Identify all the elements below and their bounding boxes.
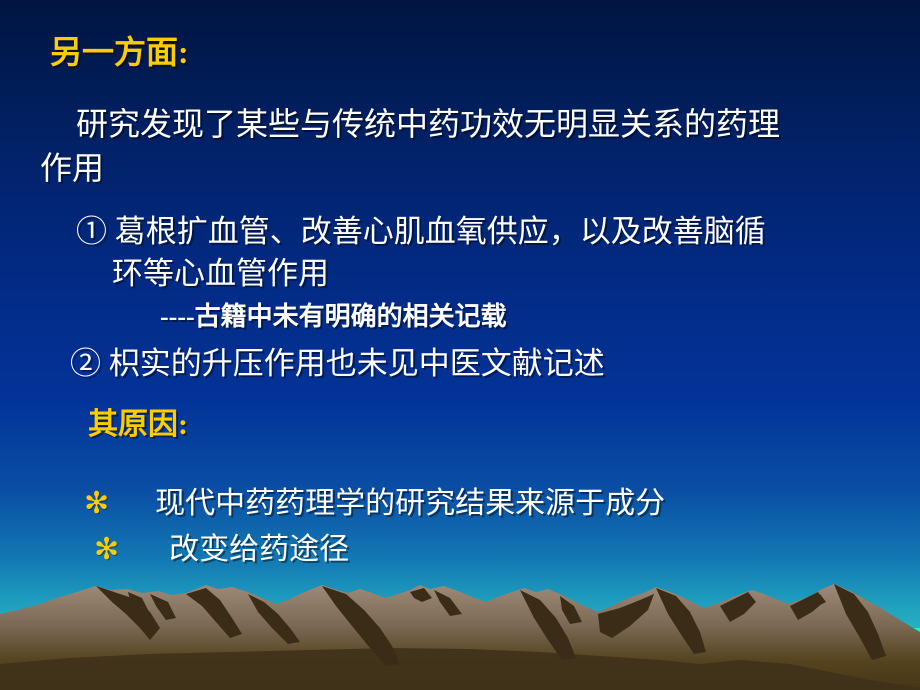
slide-canvas: 另一方面: 研究发现了某些与传统中药功效无明显关系的药理 作用 ① 葛根扩血管、… [0,0,920,690]
list-item-1-note: ----古籍中未有明确的相关记载 [160,304,507,330]
asterisk-bullet-icon: ✻ [94,532,119,567]
paragraph-line-1: 研究发现了某些与传统中药功效无明显关系的药理 [60,108,780,140]
bullet-item-1-label: 现代中药药理学的研究结果来源于成分 [155,478,665,522]
list-item-1-line-2: 环等心血管作用 [112,258,329,289]
list-item-1-line-1: ① 葛根扩血管、改善心肌血氧供应，以及改善脑循 [76,216,766,247]
heading-the-reason: 其原因: [88,410,188,440]
bullet-item-1: ✻ 现代中药药理学的研究结果来源于成分 [84,478,665,522]
heading-another-aspect: 另一方面: [50,36,189,68]
mountain-range-graphic [0,580,920,690]
bullet-item-2: ✻ 改变给药途径 [94,524,349,568]
asterisk-bullet-icon: ✻ [84,486,109,521]
paragraph-line-2: 作用 [40,152,104,184]
bullet-item-2-label: 改变给药途径 [169,524,349,568]
list-item-2-line-1: ② 枳实的升压作用也未见中医文献记述 [70,348,605,379]
